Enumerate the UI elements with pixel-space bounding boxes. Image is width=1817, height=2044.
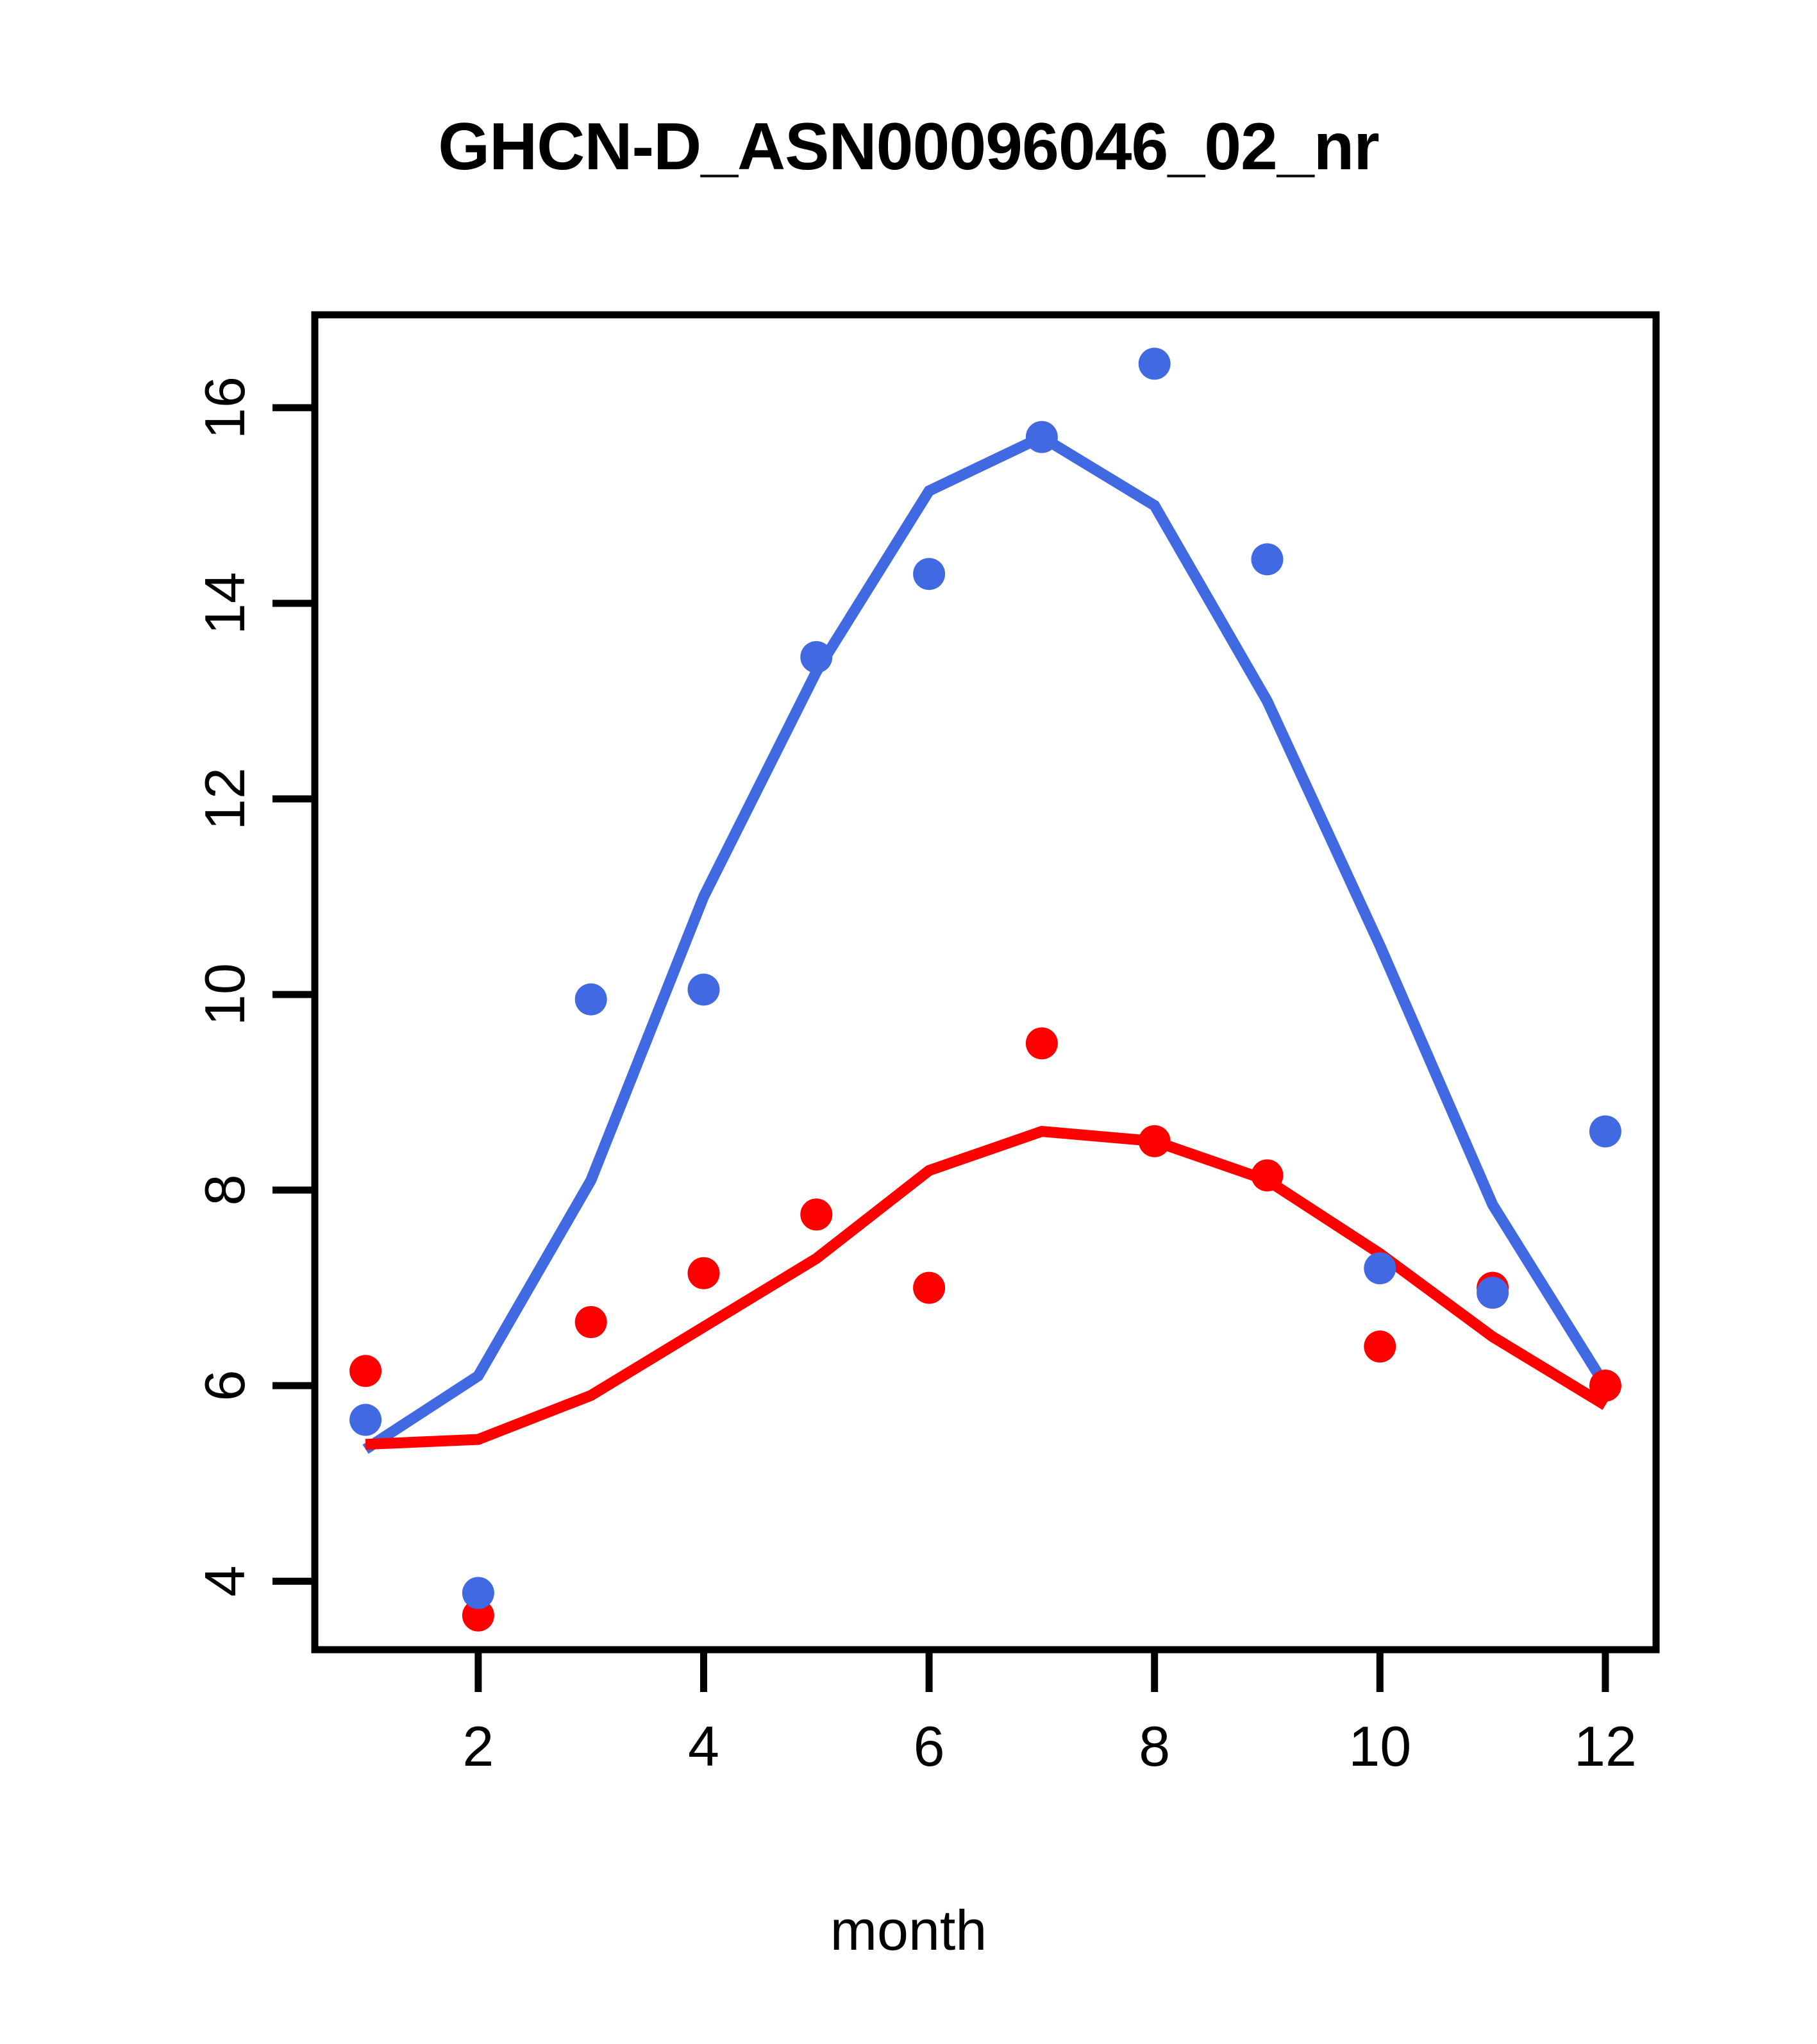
y-axis-tick-label-text: 10 bbox=[190, 956, 260, 1033]
y-axis-tick-label-text: 8 bbox=[190, 1152, 260, 1228]
plot-frame bbox=[315, 315, 1656, 1650]
data-point bbox=[1251, 1159, 1283, 1191]
data-point bbox=[688, 973, 720, 1005]
x-axis-tick-label: 4 bbox=[688, 1714, 719, 1779]
y-axis-tick-label-text: 12 bbox=[190, 760, 260, 837]
y-axis-tick-label-text: 4 bbox=[190, 1543, 260, 1620]
line-series-layer bbox=[365, 437, 1605, 1450]
data-point bbox=[913, 1272, 945, 1304]
x-axis-tick-label: 2 bbox=[462, 1714, 494, 1779]
y-axis-tick-label: 4 bbox=[187, 1546, 264, 1616]
y-axis-tick-label: 6 bbox=[187, 1350, 264, 1421]
data-point bbox=[1026, 421, 1058, 453]
x-axis-tick-label: 12 bbox=[1574, 1714, 1637, 1779]
y-axis-ticks bbox=[272, 408, 315, 1581]
y-axis-tick-label-text: 6 bbox=[190, 1347, 260, 1424]
x-axis-tick-label: 8 bbox=[1139, 1714, 1170, 1779]
data-point bbox=[1026, 1027, 1058, 1059]
data-point bbox=[1364, 1252, 1396, 1284]
series-line-red-line bbox=[365, 1132, 1605, 1445]
data-point bbox=[349, 1355, 381, 1387]
plot-canvas bbox=[0, 0, 1817, 2044]
y-axis-tick-label: 14 bbox=[187, 568, 264, 639]
data-point bbox=[462, 1577, 494, 1609]
series-line-blue-line bbox=[365, 437, 1605, 1450]
data-point bbox=[800, 641, 832, 673]
y-axis-tick-label: 16 bbox=[187, 373, 264, 443]
data-point bbox=[1477, 1277, 1509, 1309]
y-axis-tick-label-text: 16 bbox=[190, 369, 260, 446]
data-point bbox=[1251, 543, 1283, 575]
data-point bbox=[800, 1198, 832, 1230]
data-point bbox=[349, 1404, 381, 1436]
y-axis-tick-label: 8 bbox=[187, 1155, 264, 1225]
data-point bbox=[575, 1306, 607, 1338]
y-axis-tick-label: 12 bbox=[187, 764, 264, 834]
y-axis-tick-label-text: 14 bbox=[190, 565, 260, 642]
data-point bbox=[913, 558, 945, 590]
plot-page: GHCN-D_ASN00096046_02_nr 24681012 468101… bbox=[0, 0, 1817, 2044]
point-series-layer bbox=[349, 348, 1621, 1631]
x-axis-tick-label: 6 bbox=[914, 1714, 945, 1779]
data-point bbox=[688, 1257, 720, 1289]
series-points-red-points bbox=[349, 1027, 1621, 1631]
data-point bbox=[1589, 1370, 1621, 1402]
y-axis-tick-label: 10 bbox=[187, 959, 264, 1030]
data-point bbox=[1589, 1116, 1621, 1148]
x-axis-title: month bbox=[0, 1898, 1817, 1963]
data-point bbox=[1364, 1330, 1396, 1362]
data-point bbox=[1139, 1125, 1171, 1157]
x-axis-tick-label: 10 bbox=[1348, 1714, 1411, 1779]
data-point bbox=[575, 984, 607, 1016]
x-axis-ticks bbox=[478, 1650, 1605, 1692]
data-point bbox=[1139, 348, 1171, 380]
